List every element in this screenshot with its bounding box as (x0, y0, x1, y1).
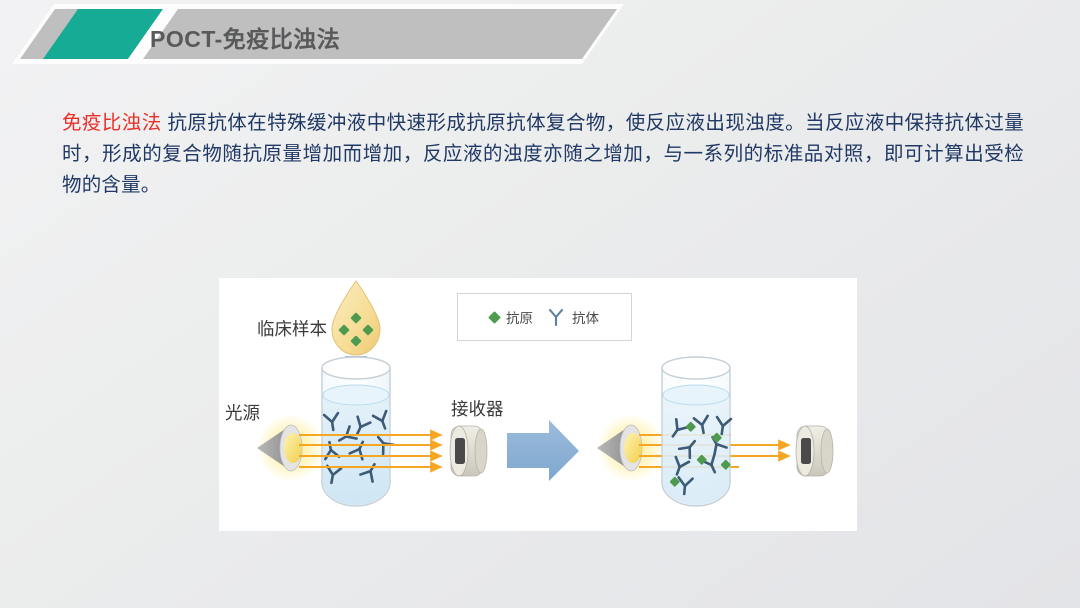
antigen-diamond-icon (488, 311, 501, 324)
legend-entry-antigen: 抗原 (490, 307, 533, 327)
transition-arrow-icon (507, 420, 579, 481)
label-clinical-sample: 临床样本 (257, 316, 327, 341)
diagram-panel: 抗原 抗体 临床样本 光源 接收器 (219, 278, 857, 531)
left-light-source-icon (257, 414, 325, 482)
sample-droplet-icon (332, 281, 380, 355)
right-cuvette (662, 357, 730, 506)
label-light-source: 光源 (225, 400, 260, 425)
highlight-term: 免疫比浊法 (62, 112, 162, 134)
right-light-source-icon (597, 414, 665, 482)
description-paragraph: 免疫比浊法 抗原抗体在特殊缓冲液中快速形成抗原抗体复合物，使反应液出现浊度。当反… (62, 108, 1024, 201)
left-antibody-group (323, 411, 394, 484)
left-light-rays (299, 435, 441, 467)
legend-label-antigen: 抗原 (506, 307, 533, 327)
antibody-y-icon (547, 308, 565, 326)
right-receiver-icon (796, 426, 833, 476)
label-receiver: 接收器 (451, 396, 504, 421)
page-title: POCT-免疫比浊法 (150, 20, 340, 54)
right-light-rays (639, 435, 789, 467)
legend-entry-antibody: 抗体 (547, 307, 599, 327)
left-cuvette (322, 357, 390, 506)
legend-label-antibody: 抗体 (572, 307, 599, 327)
sample-injection-arrow-icon (335, 356, 377, 408)
left-receiver-icon (450, 426, 487, 476)
header-banner: POCT-免疫比浊法 (0, 0, 640, 72)
paragraph-text: 抗原抗体在特殊缓冲液中快速形成抗原抗体复合物，使反应液出现浊度。当反应液中保持抗… (62, 112, 1024, 196)
right-antigen-group (669, 421, 731, 487)
diagram-legend: 抗原 抗体 (457, 293, 632, 341)
right-antibody-group (667, 416, 731, 495)
